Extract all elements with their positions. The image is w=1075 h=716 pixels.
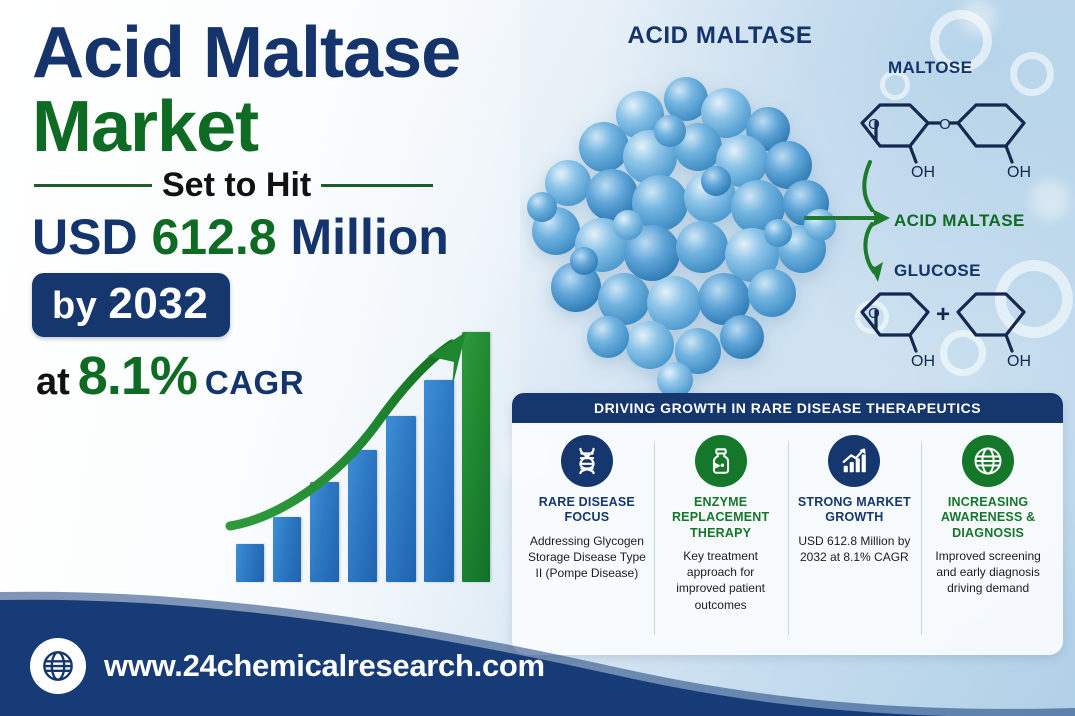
- protein-molecule-image: [520, 55, 870, 400]
- set-to-hit-row: Set to Hit: [32, 166, 532, 205]
- molecule-structures: O O OH OH O OH OH +: [828, 50, 1075, 380]
- panel-header: DRIVING GROWTH IN RARE DISEASE THERAPEUT…: [512, 393, 1063, 423]
- protein-title: ACID MALTASE: [565, 22, 875, 50]
- hydroxyl-label: OH: [1007, 164, 1031, 181]
- oxygen-atom-label: O: [868, 305, 880, 322]
- year-prefix: by: [52, 285, 97, 327]
- cagr-at-word: at: [36, 361, 70, 404]
- hydroxyl-label: OH: [911, 353, 935, 370]
- headline-line-1: Acid Maltase: [32, 18, 532, 89]
- divider-rule-right: [321, 184, 433, 187]
- card-title: RARE DISEASE FOCUS: [527, 495, 647, 526]
- chemistry-reaction-diagram: MALTOSE ACID MALTASE GLUCOSE: [828, 50, 1075, 380]
- headline-line-2: Market: [32, 91, 532, 164]
- card-description: USD 612.8 Million by 2032 at 8.1% CAGR: [795, 533, 915, 566]
- card-title: STRONG MARKET GROWTH: [795, 495, 915, 526]
- year-badge: by 2032: [32, 273, 230, 337]
- footer-branding[interactable]: www.24chemicalresearch.com: [30, 638, 545, 694]
- oxygen-atom-label: O: [868, 116, 880, 133]
- dna-helix-icon: [561, 435, 613, 487]
- hydroxyl-label: OH: [1007, 353, 1031, 370]
- cagr-value: 8.1%: [78, 345, 197, 407]
- usd-prefix: USD: [32, 209, 138, 265]
- infographic-canvas: Acid Maltase Market Set to Hit USD 612.8…: [0, 0, 1075, 716]
- market-value-line: USD 612.8 Million: [32, 211, 532, 264]
- card-title: INCREASING AWARENESS & DIAGNOSIS: [928, 495, 1048, 541]
- globe-icon: [962, 435, 1014, 487]
- plus-sign-label: +: [936, 301, 950, 328]
- card-title: ENZYME REPLACEMENT THERAPY: [661, 495, 781, 541]
- website-url[interactable]: www.24chemicalresearch.com: [104, 648, 545, 684]
- usd-suffix: Million: [291, 209, 449, 265]
- set-to-hit-text: Set to Hit: [162, 166, 311, 205]
- hydroxyl-label: OH: [911, 164, 935, 181]
- growth-bar-chart: [228, 330, 496, 582]
- medicine-vial-icon: [695, 435, 747, 487]
- panel-header-title: DRIVING GROWTH IN RARE DISEASE THERAPEUT…: [594, 400, 981, 416]
- year-value: 2032: [108, 279, 208, 328]
- arrow-head-icon: [868, 262, 883, 282]
- divider-rule-left: [34, 184, 152, 187]
- usd-value: 612.8: [151, 209, 276, 265]
- growth-chart-icon: [828, 435, 880, 487]
- globe-icon: [30, 638, 86, 694]
- growth-arrow-icon: [228, 330, 496, 582]
- oxygen-bridge-label: O: [939, 116, 951, 133]
